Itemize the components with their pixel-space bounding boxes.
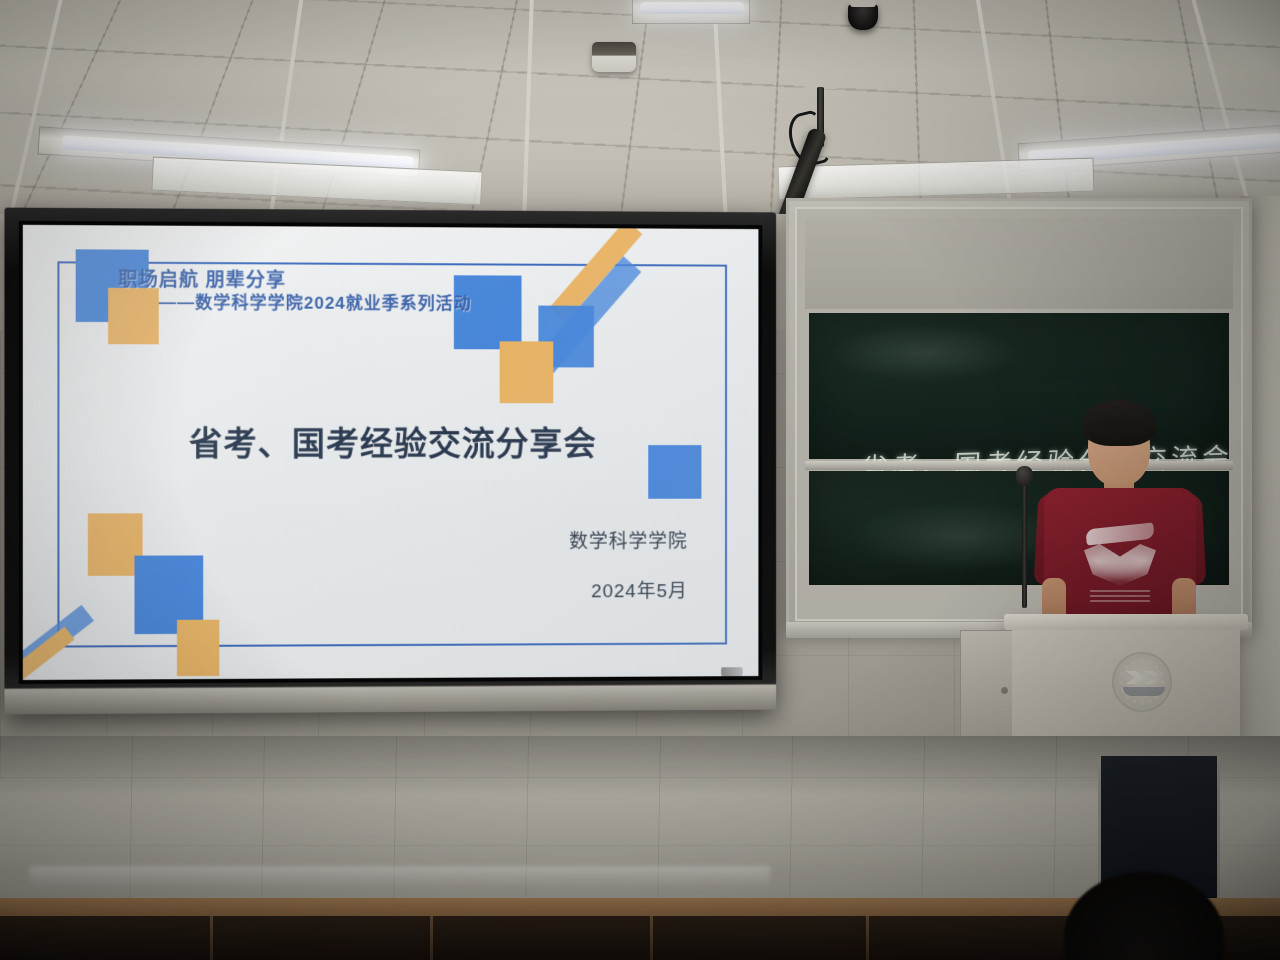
slide-date: 2024年5月 <box>591 576 688 603</box>
tshirt-graphic-script <box>1085 522 1154 545</box>
classroom-scene: 职场启航 朋辈分享 ——数学科学学院2024就业季系列活动 省考、国考经验交流分… <box>0 0 1280 960</box>
slide-header: 职场启航 朋辈分享 ——数学科学学院2024就业季系列活动 <box>118 270 471 316</box>
podium-cabinet-handle[interactable] <box>1001 687 1008 694</box>
hair <box>1082 400 1156 446</box>
screen-bottom-rail <box>4 684 776 715</box>
podium-microphone-stand <box>1022 480 1027 608</box>
deco-square-orange <box>500 341 554 403</box>
desk-divider <box>650 916 653 960</box>
slide-header-line2: ——数学科学学院2024就业季系列活动 <box>159 292 472 315</box>
blackboard-upper-gap <box>805 217 1233 309</box>
podium-top-surface <box>1004 614 1248 630</box>
tshirt-graphic-wings <box>1084 544 1156 586</box>
desk-divider <box>210 916 213 960</box>
slide-title: 省考、国考经验交流分享会 <box>23 417 759 465</box>
chalk-smudge <box>829 323 1019 383</box>
deco-square-orange <box>177 620 219 676</box>
desk-divider <box>866 916 869 960</box>
screen-bezel: 职场启航 朋辈分享 ——数学科学学院2024就业季系列活动 省考、国考经验交流分… <box>19 221 763 684</box>
emblem-wave-icon <box>1123 687 1165 696</box>
light-tube <box>640 2 744 14</box>
projection-screen[interactable]: 职场启航 朋辈分享 ——数学科学学院2024就业季系列活动 省考、国考经验交流分… <box>4 208 776 715</box>
podium-side-cabinet <box>960 630 1014 750</box>
smoke-detector <box>592 42 636 72</box>
dome-camera-icon <box>848 4 878 30</box>
desk-divider <box>430 916 433 960</box>
emblem-ring-text <box>1119 659 1165 705</box>
slide-organization: 数学科学学院 <box>569 527 688 554</box>
podium-microphone-head <box>1016 466 1033 486</box>
tshirt-graphic <box>1082 526 1158 608</box>
slide-header-line1: 职场启航 朋辈分享 <box>118 270 471 294</box>
university-emblem-icon <box>1112 652 1172 712</box>
presentation-slide: 职场启航 朋辈分享 ——数学科学学院2024就业季系列活动 省考、国考经验交流分… <box>23 225 759 680</box>
tshirt-graphic-subtext <box>1090 590 1150 602</box>
screen-brand-logo <box>721 667 743 676</box>
presenter <box>1036 398 1202 633</box>
stage-shadow <box>0 736 1280 796</box>
stage-light-reflection <box>30 866 770 888</box>
